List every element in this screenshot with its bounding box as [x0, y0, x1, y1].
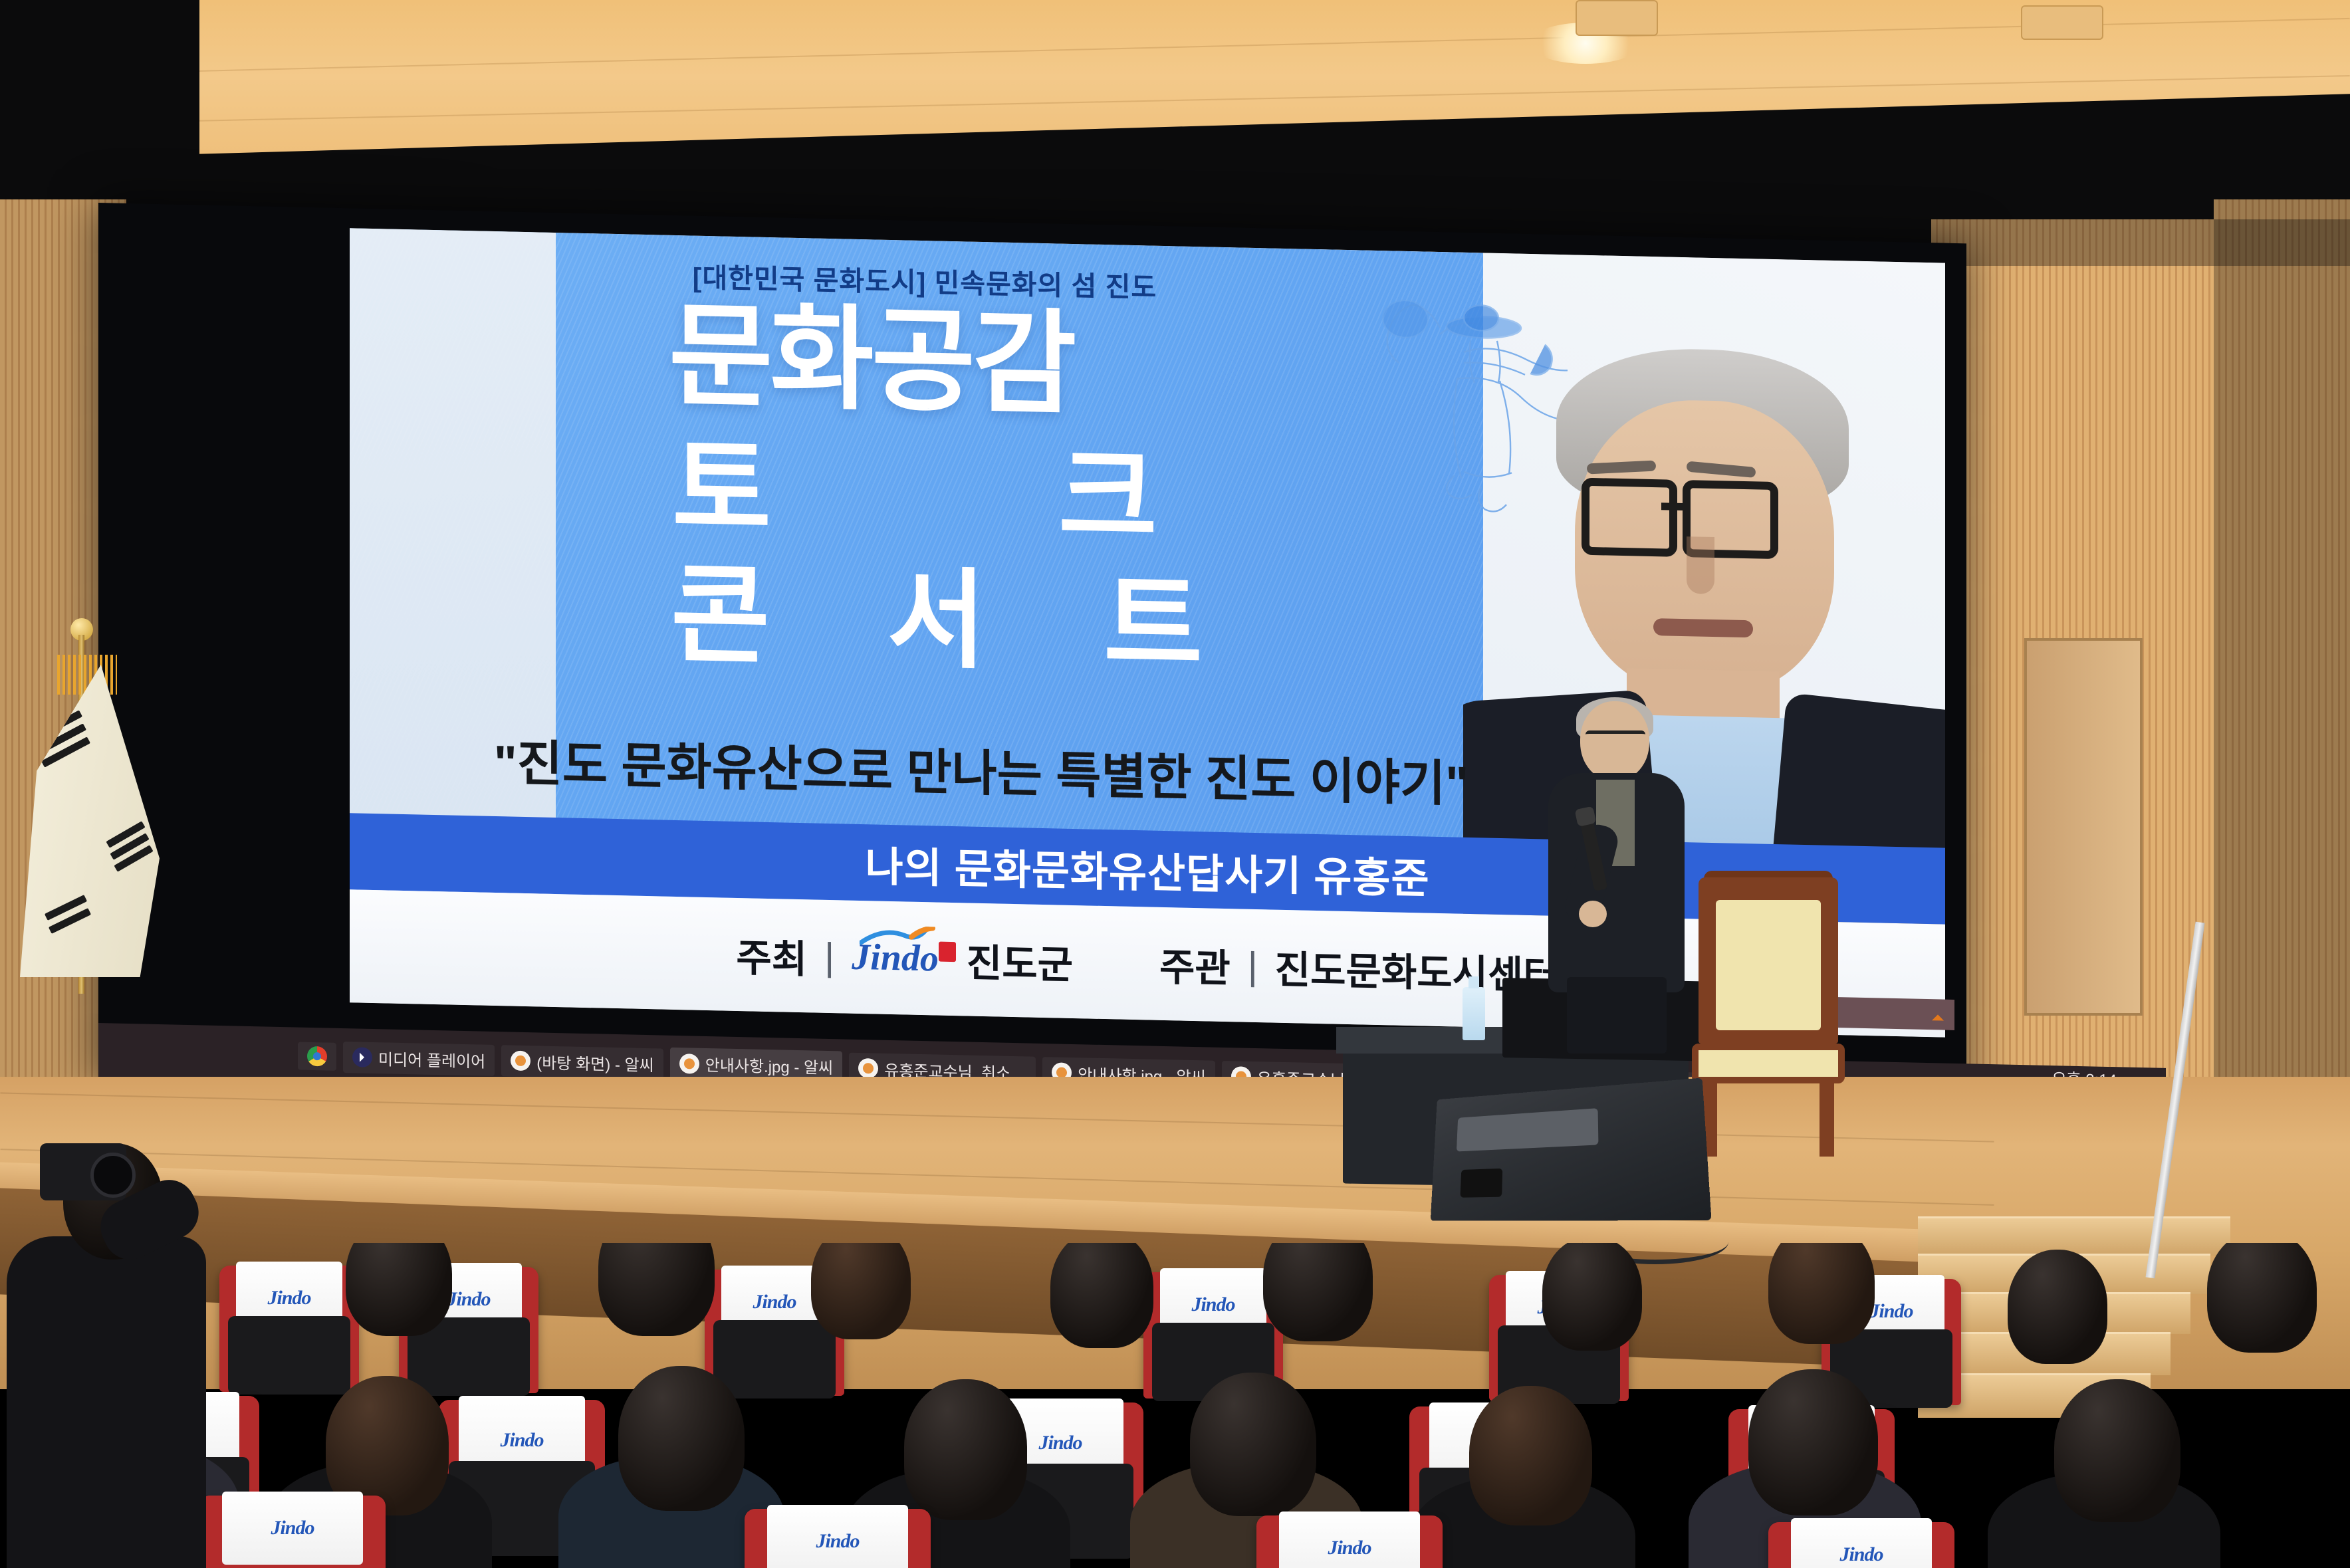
audience-head — [2008, 1250, 2107, 1364]
host-group: 주최 | Jindo 진도군 — [736, 927, 1073, 990]
slide-title-line3-b: 서 — [887, 566, 986, 675]
stage-chair — [1692, 877, 1845, 1157]
audience-head — [346, 1243, 452, 1336]
jindo-swoosh-icon — [860, 925, 939, 949]
stage-monitor-speaker — [1431, 1078, 1712, 1221]
camera — [40, 1143, 126, 1200]
water-bottle — [1463, 987, 1485, 1040]
host-divider: | — [824, 934, 834, 978]
alsee-icon — [511, 1051, 530, 1071]
slide-title-line2-b: 크 — [1058, 443, 1157, 553]
seat[interactable]: Jindo — [199, 1496, 386, 1568]
audience-head — [1263, 1243, 1373, 1341]
seat-brand-text: Jindo — [816, 1530, 859, 1553]
wall-upper-dark — [1931, 219, 2350, 266]
taskbar-item-label: 미디어 플레이어 — [378, 1046, 485, 1072]
host-name: 진도군 — [967, 931, 1073, 989]
seat-brand-text: Jindo — [753, 1291, 796, 1313]
prev-image-button[interactable] — [955, 1036, 981, 1038]
seat-brand-text: Jindo — [271, 1517, 314, 1539]
audience-head — [618, 1366, 745, 1511]
seat-brand-text: Jindo — [1038, 1432, 1082, 1454]
audience-head — [1469, 1386, 1592, 1525]
taskbar-item-label: (바탕 화면) - 알씨 — [536, 1050, 653, 1075]
audience-head — [2207, 1243, 2317, 1353]
seat[interactable]: Jindo — [745, 1509, 931, 1568]
alsee-icon — [858, 1058, 878, 1079]
audience-head — [1190, 1373, 1316, 1516]
seat-brand-text: Jindo — [500, 1429, 543, 1452]
organizer-label: 주관 — [1159, 936, 1231, 993]
seat-cover: Jindo — [767, 1505, 909, 1568]
slide-title-line1: 문화공감 — [669, 302, 1234, 423]
chrome-icon — [307, 1046, 327, 1067]
jindo-logo-mark — [939, 942, 956, 962]
jindo-logo: Jindo — [852, 936, 949, 980]
wall-right-far — [2214, 199, 2350, 1196]
audience-head — [904, 1379, 1027, 1520]
audience-area: Jindo Jindo Jindo Jindo Jindo Jindo Jind… — [0, 1243, 2350, 1568]
taskbar-item[interactable]: 미디어 플레이어 — [343, 1042, 495, 1076]
stage-top-shadow — [0, 0, 199, 219]
stage-door[interactable] — [2024, 638, 2143, 1016]
audience-head — [2054, 1379, 2180, 1522]
always-view-label: 항상보기 — [863, 1036, 924, 1038]
taskbar-item[interactable]: (바탕 화면) - 알씨 — [501, 1045, 663, 1079]
always-view-checkbox[interactable]: 항상보기 — [840, 1035, 924, 1037]
slide-title-line3: 콘 서 트 — [671, 561, 1203, 680]
taskbar-item[interactable] — [298, 1042, 336, 1071]
seat-cover: Jindo — [1279, 1512, 1421, 1568]
seat-brand-text: Jindo — [267, 1287, 310, 1309]
audience-head — [1542, 1243, 1642, 1351]
seat-cover: Jindo — [1791, 1518, 1933, 1568]
seat-cover: Jindo — [222, 1492, 364, 1565]
media-player-icon — [352, 1047, 372, 1067]
slide-paper-left — [350, 228, 556, 909]
audience-head — [1748, 1369, 1878, 1515]
seat-brand-text: Jindo — [1191, 1293, 1234, 1316]
alsee-icon — [679, 1054, 699, 1074]
ceiling-vent — [1576, 0, 1658, 36]
slide-title-line2: 토 크 — [672, 435, 1157, 553]
seat[interactable]: Jindo — [219, 1266, 359, 1392]
slide-title-line3-c: 트 — [1104, 570, 1203, 680]
seat[interactable]: Jindo — [1768, 1522, 1954, 1568]
chevron-up-icon[interactable] — [1932, 1008, 1944, 1020]
seat-brand-text: Jindo — [1839, 1543, 1883, 1566]
audience-head — [811, 1243, 911, 1339]
audience-head — [1050, 1243, 1153, 1348]
photographer — [0, 990, 219, 1568]
seat-brand-text: Jindo — [1328, 1537, 1371, 1559]
organizer-divider: | — [1248, 943, 1258, 988]
seat-brand-text: Jindo — [1869, 1300, 1913, 1323]
ceiling-vent — [2021, 5, 2103, 40]
audience-head — [1768, 1243, 1875, 1344]
slide-title-line2-a: 토 — [672, 435, 771, 544]
auditorium-scene: [대한민국 문화도시] 민속문화의 섬 진도 문화공감 토 크 콘 서 트 "진… — [0, 0, 2350, 1568]
host-label: 주최 — [736, 927, 807, 984]
organizer-group: 주관 | 진도문화도시센터 — [1159, 936, 1559, 1000]
speaker-person — [1539, 701, 1692, 1047]
seat-brand-text: Jindo — [447, 1288, 490, 1311]
slide-title-line3-a: 콘 — [671, 561, 770, 671]
seat[interactable]: Jindo — [1256, 1515, 1443, 1568]
audience-head — [598, 1243, 715, 1336]
taskbar-item-label: 안내사항.jpg - 알씨 — [705, 1052, 834, 1078]
